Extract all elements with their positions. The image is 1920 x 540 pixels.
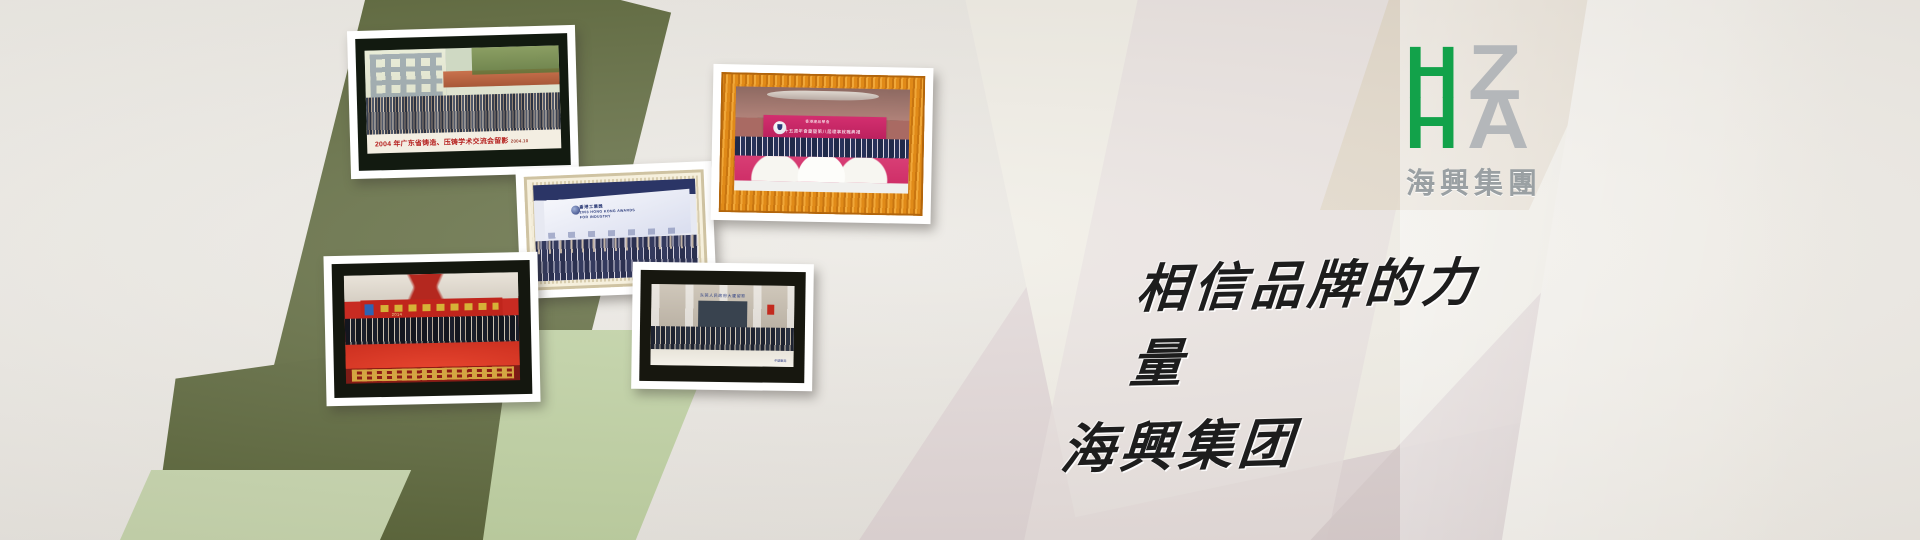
logo-chinese-name: 海興集團 (1406, 160, 1542, 202)
emblem-badge-icon (364, 304, 373, 315)
slogan-line-2: 海興集团 (1058, 393, 1527, 485)
photo-frame-hk-banquet[interactable]: 香港潮品學會 十五週年會慶暨第八屆理事就職典禮 二零一三年十二月十八日香港國際學… (711, 64, 934, 224)
backdrop-title-text-graphic (380, 302, 499, 312)
backdrop-year-label: 2014 (392, 312, 403, 317)
photo-frame-guangdong-2004[interactable]: 2004 年广东省铸造、压铸学术交流会留影 2004.10 (347, 25, 579, 179)
logo-letter-h-bottom: H (1405, 94, 1458, 152)
photo-mount: 2004 年广东省铸造、压铸学术交流会留影 2004.10 (355, 33, 571, 171)
photo-image-guangdong-2004: 2004 年广东省铸造、压铸学术交流会留影 2004.10 (365, 45, 562, 153)
flower-arrangement-graphic (734, 155, 908, 183)
background-graphics (0, 0, 1920, 540)
flag-graphic (767, 304, 774, 314)
photo-frame-building-entrance[interactable]: 东莞人民政府大厦留影 中國東莞 (631, 262, 814, 392)
name-list-strip-graphic (351, 365, 515, 382)
photo-mount: 香港潮品學會 十五週年會慶暨第八屆理事就職典禮 二零一三年十二月十八日香港國際學… (719, 72, 926, 216)
hero-banner: 2004 年广东省铸造、压铸学术交流会留影 2004.10 香港工業獎 2003… (0, 0, 1920, 540)
trees-graphic (471, 45, 559, 74)
award-backdrop-text: 香港工業獎 2003 HONG KONG AWARDS FOR INDUSTRY (579, 201, 657, 220)
photo-image-building-entrance: 东莞人民政府大厦留影 中國東莞 (650, 284, 794, 367)
photo-frame-red-backdrop-2014[interactable]: 2014 (323, 252, 540, 406)
company-logo[interactable]: H H Z A 海興集團 (1405, 48, 1595, 198)
slogan-block: 相信品牌的力量 海興集团 (1062, 243, 1522, 478)
vignette-overlay (0, 0, 1920, 540)
ground-graphic (650, 349, 793, 367)
photo-mount: 2014 (332, 260, 533, 398)
photo-image-hk-banquet: 香港潮品學會 十五週年會慶暨第八屆理事就職典禮 二零一三年十二月十八日香港國際學… (734, 86, 910, 193)
slogan-line-1: 相信品牌的力量 (1127, 239, 1528, 397)
logo-mark: H H Z A (1405, 48, 1585, 158)
logo-letter-a: A (1467, 90, 1529, 152)
photo-caption-guangdong-2004: 2004 年广东省铸造、压铸学术交流会留影 2004.10 (375, 134, 554, 149)
photo-image-red-backdrop-2014: 2014 (344, 272, 520, 384)
photo-stamp-text: 中國東莞 (774, 360, 786, 364)
photo-mount: 东莞人民政府大厦留影 中國東莞 (639, 270, 806, 383)
